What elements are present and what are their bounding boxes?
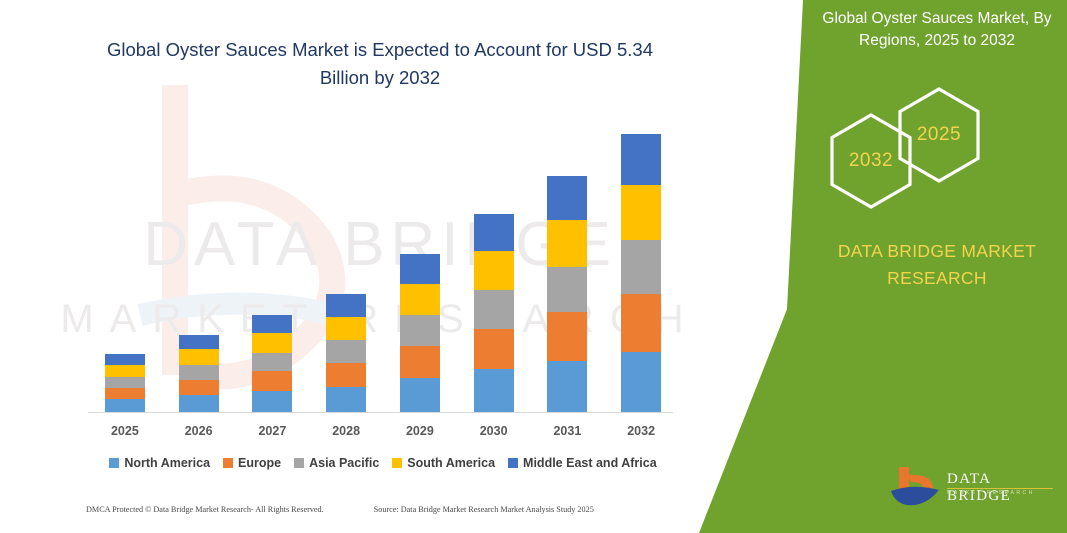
legend-item: Asia Pacific (294, 456, 379, 470)
footer: DMCA Protected © Data Bridge Market Rese… (0, 505, 760, 514)
bar-segment (105, 388, 145, 399)
bar-segment (326, 294, 366, 316)
bar-segment (326, 363, 366, 387)
legend-label: Europe (238, 456, 281, 470)
x-axis-label-2030: 2030 (474, 424, 514, 438)
bar-segment (326, 387, 366, 412)
bar-segment (547, 220, 587, 267)
x-axis-label-2028: 2028 (326, 424, 366, 438)
bar-segment (105, 354, 145, 365)
source-note: Source: Data Bridge Market Research Mark… (374, 505, 594, 514)
bar-segment (547, 176, 587, 220)
brand-name: DATA BRIDGE MARKET RESEARCH (817, 238, 1057, 292)
bar-segment (474, 369, 514, 412)
legend-swatch (223, 458, 233, 468)
bar-2028 (326, 294, 366, 412)
bar-segment (252, 315, 292, 333)
chart-title: Global Oyster Sauces Market is Expected … (80, 36, 680, 92)
logo-divider (947, 488, 1053, 489)
bar-segment (400, 315, 440, 346)
bar-segment (326, 340, 366, 363)
bar-segment (621, 294, 661, 351)
bar-segment (400, 284, 440, 315)
bar-2029 (400, 254, 440, 412)
bar-segment (474, 214, 514, 251)
bar-2031 (547, 176, 587, 412)
bar-chart (88, 120, 678, 412)
bar-segment (326, 317, 366, 340)
legend-swatch (392, 458, 402, 468)
bar-2032 (621, 134, 661, 412)
bar-segment (474, 290, 514, 329)
hexagon-end-year: 2025 (895, 86, 983, 184)
legend-label: North America (124, 456, 210, 470)
x-axis-label-2031: 2031 (547, 424, 587, 438)
bar-segment (179, 335, 219, 349)
bar-2027 (252, 315, 292, 412)
logo-subtitle: MARKET RESEARCH (947, 490, 1035, 496)
hexagon-group: 2032 2025 (817, 90, 1057, 210)
legend-label: Asia Pacific (309, 456, 379, 470)
panel-title: Global Oyster Sauces Market, By Regions,… (817, 8, 1057, 53)
legend-item: Europe (223, 456, 281, 470)
bar-2030 (474, 214, 514, 412)
bar-segment (252, 371, 292, 391)
bar-segment (400, 346, 440, 378)
bar-2026 (179, 335, 219, 412)
bar-segment (547, 361, 587, 412)
chart-panel: DATA BRIDGE MARKET RESEARCH Global Oyste… (0, 0, 760, 533)
hexagon-end-year-label: 2025 (917, 124, 961, 146)
bar-segment (400, 254, 440, 284)
bar-segment (252, 391, 292, 412)
x-axis-label-2026: 2026 (179, 424, 219, 438)
bar-segment (105, 377, 145, 388)
bar-segment (179, 349, 219, 365)
bar-segment (547, 267, 587, 313)
chart-legend: North AmericaEuropeAsia PacificSouth Ame… (88, 456, 678, 470)
bar-segment (179, 395, 219, 412)
x-axis-labels: 20252026202720282029203020312032 (88, 424, 678, 438)
bar-segment (474, 329, 514, 370)
bar-segment (400, 378, 440, 412)
legend-label: South America (407, 456, 495, 470)
bar-2025 (105, 354, 145, 412)
data-bridge-mark-icon (889, 463, 945, 511)
bar-segment (547, 312, 587, 360)
legend-swatch (508, 458, 518, 468)
x-axis-label-2025: 2025 (105, 424, 145, 438)
bar-segment (621, 134, 661, 185)
x-axis-label-2032: 2032 (621, 424, 661, 438)
bar-segment (105, 399, 145, 412)
hexagon-start-year-label: 2032 (849, 150, 893, 172)
bar-segment (474, 251, 514, 290)
x-axis-label-2027: 2027 (252, 424, 292, 438)
legend-item: Middle East and Africa (508, 456, 657, 470)
legend-item: North America (109, 456, 210, 470)
bar-segment (252, 353, 292, 372)
legend-item: South America (392, 456, 495, 470)
legend-label: Middle East and Africa (523, 456, 657, 470)
bar-segment (105, 365, 145, 377)
bar-segment (621, 185, 661, 240)
bar-segment (621, 352, 661, 412)
bar-segment (252, 333, 292, 353)
x-axis-line (88, 412, 673, 413)
x-axis-label-2029: 2029 (400, 424, 440, 438)
bar-segment (179, 365, 219, 380)
company-logo: DATA BRIDGE MARKET RESEARCH (889, 463, 1059, 515)
legend-swatch (294, 458, 304, 468)
dmca-notice: DMCA Protected © Data Bridge Market Rese… (86, 505, 324, 514)
bar-segment (621, 240, 661, 294)
legend-swatch (109, 458, 119, 468)
bar-segment (179, 380, 219, 396)
